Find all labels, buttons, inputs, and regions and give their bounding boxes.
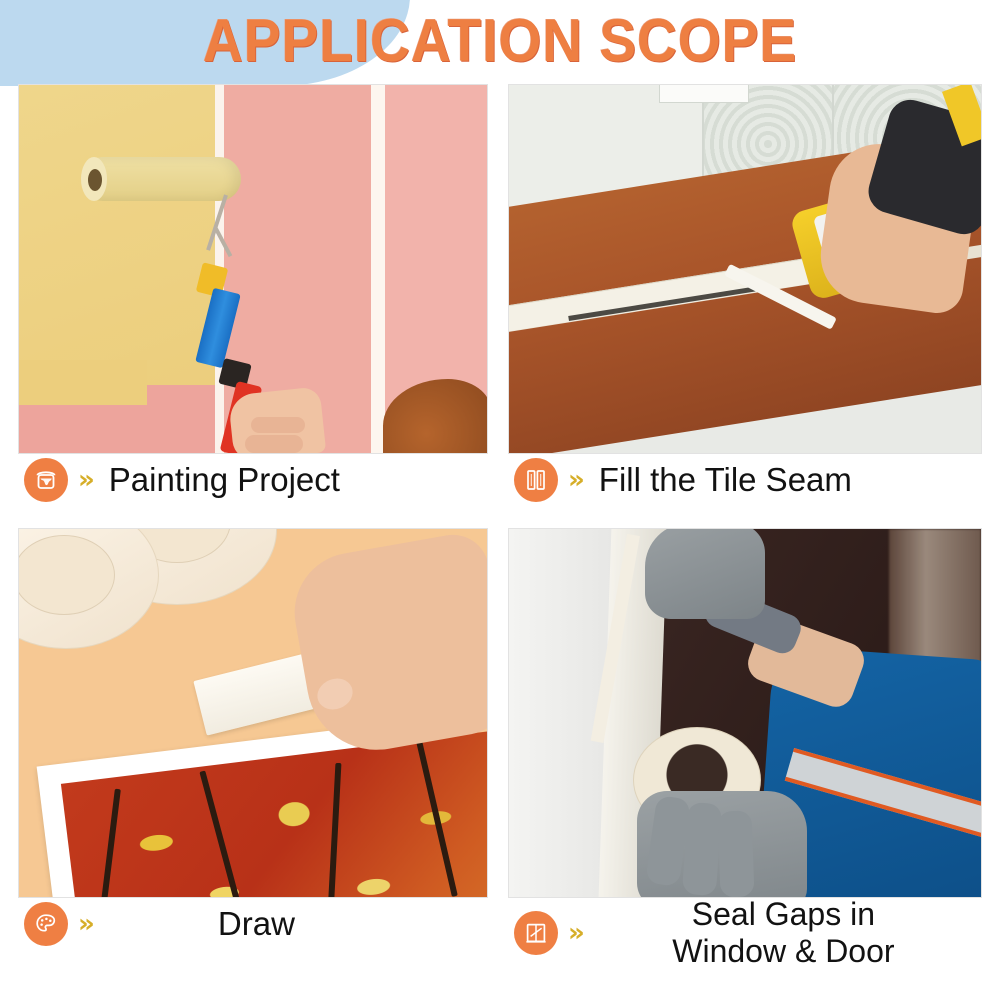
paint-bucket-glyph bbox=[33, 467, 59, 493]
glove-finger bbox=[718, 810, 755, 897]
caption-label: Painting Project bbox=[101, 461, 340, 499]
yellow-paint-edge bbox=[19, 360, 147, 405]
tile-seam-icon bbox=[514, 458, 558, 502]
page-title: APPLICATION SCOPE bbox=[40, 8, 960, 74]
chevron-icon: » bbox=[78, 467, 91, 493]
scope-item-fill-tile-seam: » Fill the Tile Seam bbox=[508, 84, 982, 530]
paint-palette-glyph bbox=[33, 911, 59, 937]
gloved-hand-upper bbox=[645, 528, 765, 619]
tile-trim bbox=[659, 84, 749, 103]
finger bbox=[245, 435, 303, 453]
window-tape-glyph bbox=[523, 920, 549, 946]
finger bbox=[251, 417, 305, 433]
glove-finger bbox=[682, 802, 722, 896]
page-header: APPLICATION SCOPE bbox=[0, 0, 1000, 86]
photo-fill-tile-seam bbox=[508, 84, 982, 454]
paint-roller-core bbox=[88, 169, 102, 191]
chevron-icon: » bbox=[568, 467, 581, 493]
photo-painting-project bbox=[18, 84, 488, 454]
painted-branch bbox=[416, 740, 458, 897]
caption-seal-gaps: » Seal Gaps in Window & Door bbox=[508, 896, 982, 970]
caption-fill-tile-seam: » Fill the Tile Seam bbox=[508, 458, 982, 502]
yellow-paint-area bbox=[19, 85, 215, 385]
paint-palette-icon bbox=[24, 902, 68, 946]
caption-draw: » Draw bbox=[18, 902, 488, 946]
caption-label: Fill the Tile Seam bbox=[591, 461, 852, 499]
tile-seam-glyph bbox=[523, 467, 549, 493]
wall-seam-right bbox=[371, 85, 385, 453]
autumn-leaves-painting bbox=[61, 730, 488, 898]
photo-seal-gaps bbox=[508, 528, 982, 898]
caption-label: Seal Gaps in Window & Door bbox=[591, 896, 976, 970]
painted-branch bbox=[328, 763, 342, 898]
window-tape-icon bbox=[514, 911, 558, 955]
caption-label: Draw bbox=[101, 905, 482, 943]
painted-branch bbox=[199, 771, 246, 898]
scope-item-draw: » Draw bbox=[18, 528, 488, 990]
scope-item-seal-gaps: » Seal Gaps in Window & Door bbox=[508, 528, 982, 990]
photo-draw bbox=[18, 528, 488, 898]
scope-item-painting-project: » Painting Project bbox=[18, 84, 488, 530]
chevron-icon: » bbox=[78, 911, 91, 937]
paint-bucket-icon bbox=[24, 458, 68, 502]
painted-branch bbox=[98, 789, 121, 898]
caption-painting-project: » Painting Project bbox=[18, 458, 488, 502]
chevron-icon: » bbox=[568, 920, 581, 946]
